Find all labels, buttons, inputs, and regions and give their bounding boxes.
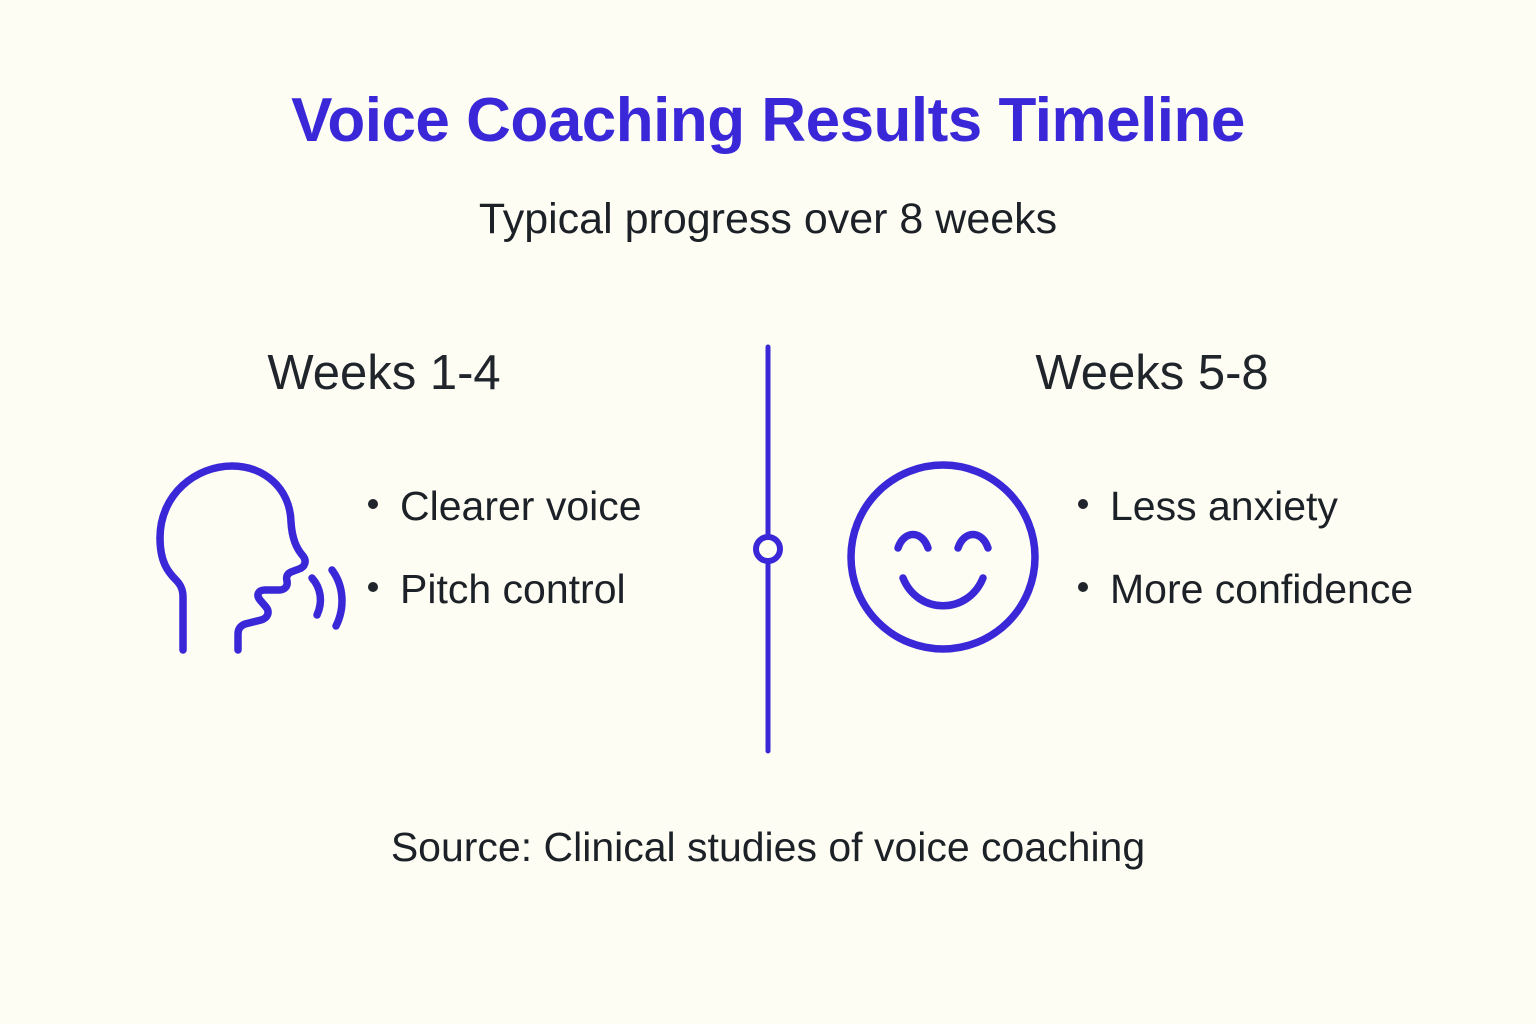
bullet-dot-icon <box>1078 499 1088 509</box>
list-item: More confidence <box>1078 569 1413 610</box>
list-item: Less anxiety <box>1078 486 1413 527</box>
list-item: Clearer voice <box>368 486 642 527</box>
list-item: Pitch control <box>368 569 642 610</box>
list-item-label: Clearer voice <box>400 486 642 527</box>
timeline-divider <box>752 344 784 754</box>
bullet-dot-icon <box>368 499 378 509</box>
source-caption: Source: Clinical studies of voice coachi… <box>0 824 1536 871</box>
bullet-dot-icon <box>1078 582 1088 592</box>
list-item-label: Pitch control <box>400 569 626 610</box>
phase-heading-weeks-1-4: Weeks 1-4 <box>0 345 768 401</box>
list-item-label: More confidence <box>1110 569 1413 610</box>
page-subtitle: Typical progress over 8 weeks <box>0 196 1536 243</box>
phase-heading-weeks-5-8: Weeks 5-8 <box>768 345 1536 401</box>
smiley-face-icon <box>846 460 1041 655</box>
infographic-canvas: Voice Coaching Results Timeline Typical … <box>0 0 1536 1024</box>
speaking-head-icon <box>152 460 347 655</box>
page-title: Voice Coaching Results Timeline <box>0 88 1536 153</box>
bullet-dot-icon <box>368 582 378 592</box>
phase-bullets-weeks-1-4: Clearer voice Pitch control <box>368 486 642 610</box>
list-item-label: Less anxiety <box>1110 486 1338 527</box>
phase-bullets-weeks-5-8: Less anxiety More confidence <box>1078 486 1413 610</box>
